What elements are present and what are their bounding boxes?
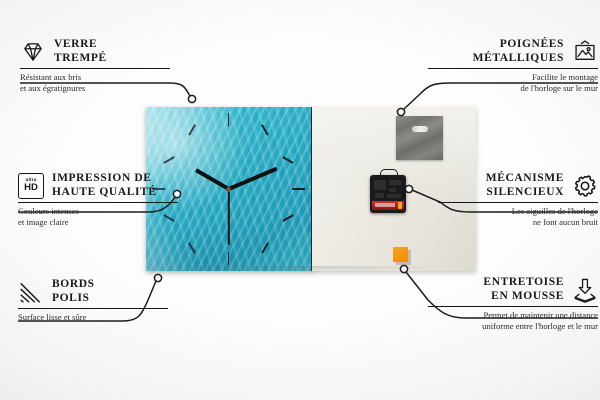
ultra-hd-badge-main-text: HD bbox=[24, 183, 38, 193]
clock-tick bbox=[188, 242, 196, 253]
callout-verre-trempe: VERRE TREMPÉ Résistant aux bris et aux é… bbox=[20, 38, 170, 94]
ultra-hd-badge-icon: ultra HD bbox=[18, 173, 44, 199]
mechanism-detail bbox=[389, 188, 396, 192]
callout-subtitle: Résistant aux bris et aux égratignures bbox=[20, 72, 170, 93]
mechanism-detail bbox=[375, 193, 384, 198]
battery-terminal bbox=[398, 202, 402, 209]
callout-rule bbox=[18, 308, 168, 309]
battery-label bbox=[375, 203, 395, 207]
diamond-icon bbox=[20, 39, 46, 65]
clock-mechanism bbox=[370, 175, 406, 213]
callout-subtitle: Surface lisse et sûre bbox=[18, 312, 168, 323]
clock-tick bbox=[282, 214, 293, 222]
clock-tick bbox=[282, 156, 293, 164]
callout-impression-haute-qualite: ultra HD IMPRESSION DE HAUTE QUALITÉ Cou… bbox=[18, 172, 178, 228]
mechanism-battery bbox=[372, 201, 404, 210]
hanger-slot bbox=[412, 126, 428, 132]
callout-subtitle: Couleurs intenses et image claire bbox=[18, 206, 178, 227]
callout-poignees-metalliques: POIGNÉES MÉTALLIQUES Facilite le montage… bbox=[428, 38, 598, 94]
polished-edges-icon bbox=[18, 279, 44, 305]
clock-second-hand bbox=[228, 189, 230, 245]
picture-hanger-icon bbox=[572, 39, 598, 65]
callout-subtitle: Facilite le montage de l'horloge sur le … bbox=[428, 72, 598, 93]
callout-rule bbox=[20, 68, 170, 69]
callout-subtitle: Les aiguilles de l'horloge ne font aucun… bbox=[438, 206, 598, 227]
clock-tick bbox=[228, 252, 230, 265]
callout-rule bbox=[428, 306, 598, 307]
callout-title: POIGNÉES MÉTALLIQUES bbox=[473, 38, 564, 65]
callout-title: MÉCANISME SILENCIEUX bbox=[486, 172, 564, 199]
callout-rule bbox=[428, 68, 598, 69]
mechanism-detail bbox=[374, 180, 386, 190]
clock-tick bbox=[292, 188, 305, 190]
callout-subtitle: Permet de maintenir une distance uniform… bbox=[428, 310, 598, 331]
metal-hanger-plate bbox=[396, 116, 443, 160]
connector-dot-verre-trempe bbox=[188, 95, 195, 102]
clock-hour-hand bbox=[195, 168, 230, 191]
callout-entretoise-en-mousse: ENTRETOISE EN MOUSSE Permet de maintenir… bbox=[428, 276, 598, 332]
callout-bords-polis: BORDS POLIS Surface lisse et sûre bbox=[18, 278, 168, 323]
infographic-canvas: VERRE TREMPÉ Résistant aux bris et aux é… bbox=[0, 0, 600, 400]
clock-tick bbox=[163, 156, 174, 164]
callout-title: ENTRETOISE EN MOUSSE bbox=[483, 276, 564, 303]
callout-title: IMPRESSION DE HAUTE QUALITÉ bbox=[52, 172, 157, 199]
clock-tick bbox=[228, 113, 230, 126]
callout-rule bbox=[18, 202, 178, 203]
callout-title: VERRE TREMPÉ bbox=[54, 38, 107, 65]
callout-mecanisme-silencieux: MÉCANISME SILENCIEUX Les aiguilles de l'… bbox=[438, 172, 598, 228]
gear-icon bbox=[572, 173, 598, 199]
foam-spacer-arrow-icon bbox=[572, 277, 598, 303]
clock-tick bbox=[261, 242, 269, 253]
mechanism-detail bbox=[389, 180, 401, 185]
callout-rule bbox=[438, 202, 598, 203]
clock-tick bbox=[261, 124, 269, 135]
callout-title: BORDS POLIS bbox=[52, 278, 95, 305]
clock-tick bbox=[188, 124, 196, 135]
clock-hand-cap bbox=[226, 187, 231, 192]
mechanism-detail bbox=[387, 194, 401, 198]
foam-spacer-pad bbox=[393, 247, 408, 262]
clock-minute-hand bbox=[228, 167, 278, 191]
